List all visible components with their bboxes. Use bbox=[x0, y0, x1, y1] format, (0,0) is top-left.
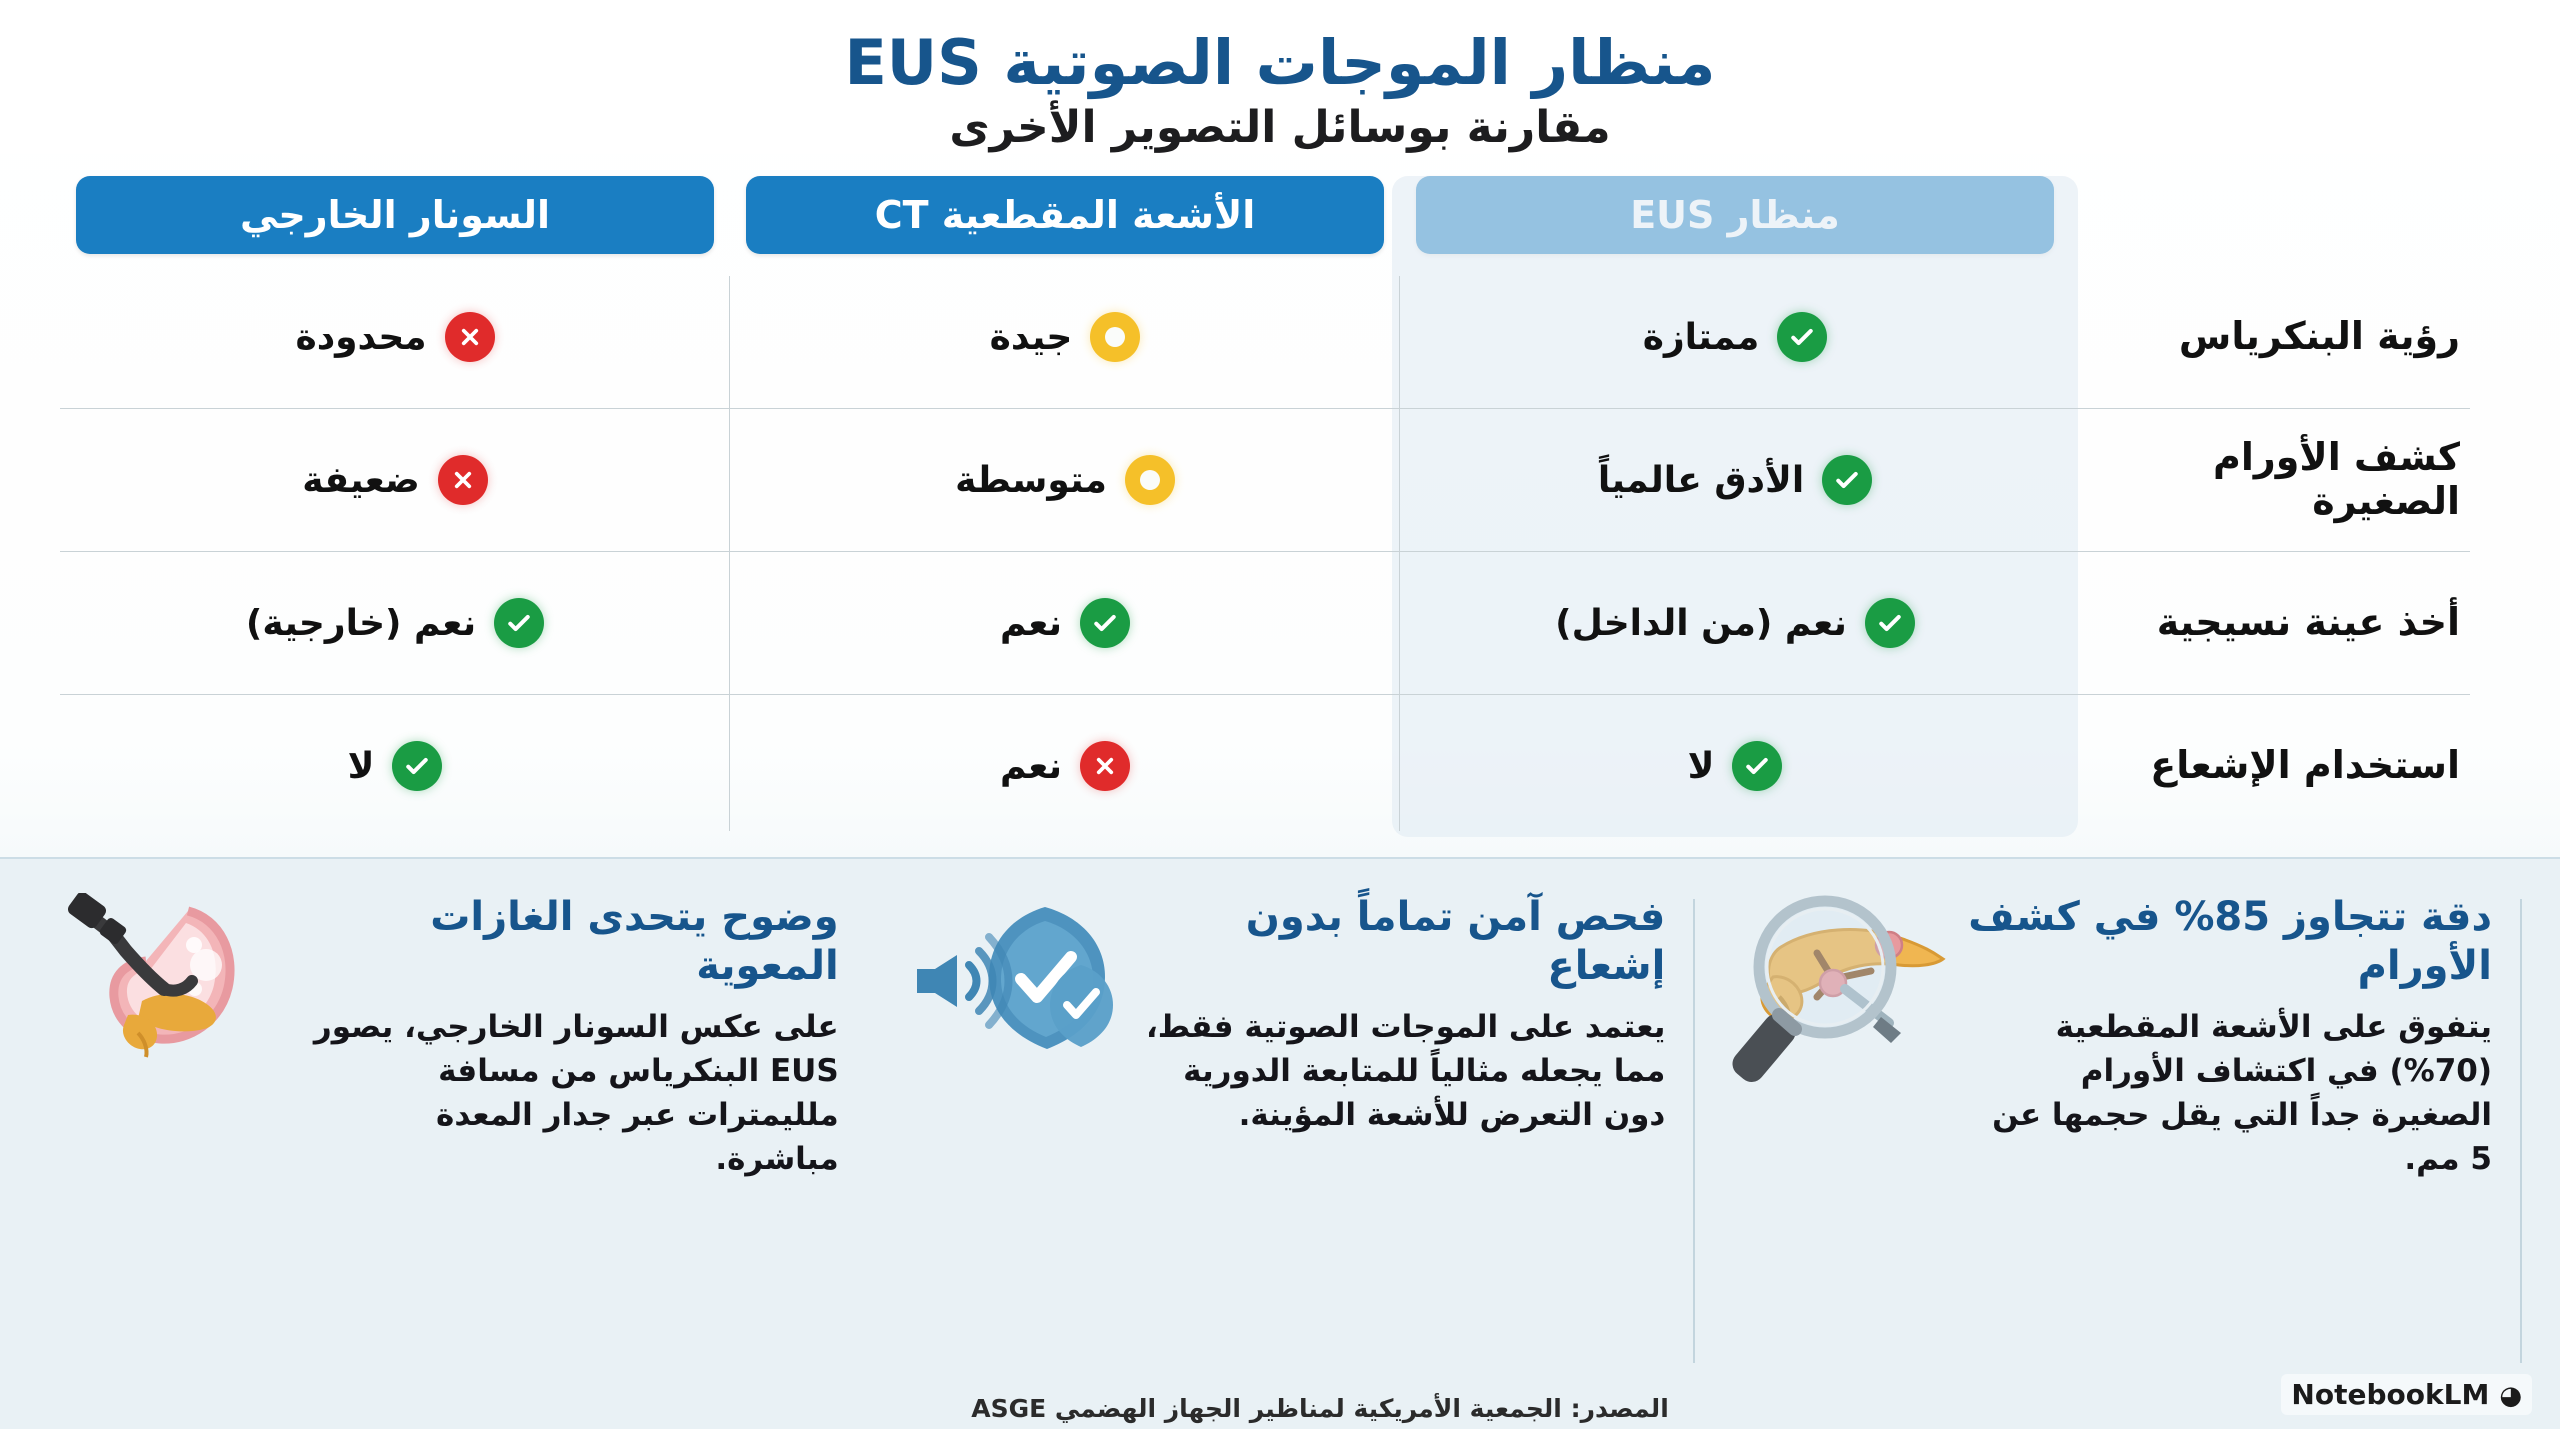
partial-circle-icon bbox=[1090, 312, 1140, 362]
watermark-label: NotebookLM bbox=[2291, 1378, 2489, 1411]
table-cell-ct: جيدة bbox=[730, 266, 1400, 408]
column-header-ct-label: الأشعة المقطعية CT bbox=[746, 176, 1384, 254]
source-text: المصدر: الجمعية الأمريكية لمناظير الجهاز… bbox=[971, 1394, 1669, 1423]
cell-text: لا bbox=[1688, 746, 1715, 787]
column-header-ct: الأشعة المقطعية CT bbox=[730, 176, 1400, 266]
check-circle-icon bbox=[1777, 312, 1827, 362]
column-divider bbox=[729, 276, 730, 831]
cross-circle-icon bbox=[438, 455, 488, 505]
row-label: أخذ عينة نسيجية bbox=[2070, 552, 2470, 694]
cell-text: ضعيفة bbox=[302, 460, 420, 501]
cell-text: ممتازة bbox=[1643, 317, 1760, 358]
table-cell-eus: ممتازة bbox=[1400, 266, 2070, 408]
table-corner-blank bbox=[2070, 176, 2470, 266]
header: منظار الموجات الصوتية EUS مقارنة بوسائل … bbox=[0, 0, 2560, 154]
cross-circle-icon bbox=[1080, 741, 1130, 791]
row-divider bbox=[60, 694, 2470, 695]
column-header-sonar-label: السونار الخارجي bbox=[76, 176, 714, 254]
row-label: كشف الأورام الصغيرة bbox=[2070, 409, 2470, 551]
table-cell-ct: متوسطة bbox=[730, 409, 1400, 551]
feature-title: دقة تتجاوز 85% في كشف الأورام bbox=[1961, 893, 2492, 991]
partial-circle-icon bbox=[1125, 455, 1175, 505]
cell-text: نعم (خارجية) bbox=[246, 603, 476, 644]
check-circle-icon bbox=[1732, 741, 1782, 791]
table-cell-sonar: نعم (خارجية) bbox=[60, 552, 730, 694]
infographic-page: منظار الموجات الصوتية EUS مقارنة بوسائل … bbox=[0, 0, 2560, 1429]
table-cell-ct: نعم bbox=[730, 695, 1400, 837]
column-header-eus: منظار EUS bbox=[1400, 176, 2070, 266]
footer: المصدر: الجمعية الأمريكية لمناظير الجهاز… bbox=[0, 1337, 2560, 1429]
row-divider bbox=[60, 408, 2470, 409]
table-cell-sonar: محدودة bbox=[60, 266, 730, 408]
page-title: منظار الموجات الصوتية EUS bbox=[0, 28, 2560, 97]
table-cell-eus: الأدق عالمياً bbox=[1400, 409, 2070, 551]
check-circle-icon bbox=[1822, 455, 1872, 505]
cell-text: لا bbox=[348, 746, 375, 787]
check-circle-icon bbox=[1865, 598, 1915, 648]
magnifier-pancreas-tumor-icon bbox=[1721, 893, 1951, 1083]
feature-title: فحص آمن تماماً بدون إشعاع bbox=[1135, 893, 1666, 991]
feature-body: على عكس السونار الخارجي، يصور EUS البنكر… bbox=[308, 1005, 839, 1181]
check-circle-icon bbox=[1080, 598, 1130, 648]
check-circle-icon bbox=[494, 598, 544, 648]
row-divider bbox=[60, 551, 2470, 552]
row-label: استخدام الإشعاع bbox=[2070, 695, 2470, 837]
column-divider bbox=[1399, 276, 1400, 831]
row-label: رؤية البنكرياس bbox=[2070, 266, 2470, 408]
feature-title: وضوح يتحدى الغازات المعوية bbox=[308, 893, 839, 991]
endoscope-stomach-pancreas-icon bbox=[68, 893, 298, 1083]
check-circle-icon bbox=[392, 741, 442, 791]
cell-text: الأدق عالمياً bbox=[1598, 460, 1804, 501]
column-header-eus-label: منظار EUS bbox=[1416, 176, 2054, 254]
cell-text: محدودة bbox=[295, 317, 426, 358]
cell-text: نعم bbox=[1000, 603, 1062, 644]
table-cell-eus: لا bbox=[1400, 695, 2070, 837]
feature-body: يتفوق على الأشعة المقطعية (70%) في اكتشا… bbox=[1961, 1005, 2492, 1181]
cell-text: نعم bbox=[1000, 746, 1062, 787]
notebooklm-logo-icon: ◕ bbox=[2499, 1381, 2522, 1411]
table-cell-sonar: لا bbox=[60, 695, 730, 837]
column-header-sonar: السونار الخارجي bbox=[60, 176, 730, 266]
table-cell-sonar: ضعيفة bbox=[60, 409, 730, 551]
shield-soundwave-icon bbox=[895, 893, 1125, 1083]
table-cell-ct: نعم bbox=[730, 552, 1400, 694]
cell-text: متوسطة bbox=[955, 460, 1107, 501]
comparison-table: منظار EUS الأشعة المقطعية CT السونار الخ… bbox=[0, 176, 2560, 837]
feature-body: يعتمد على الموجات الصوتية فقط، مما يجعله… bbox=[1135, 1005, 1666, 1137]
cell-text: نعم (من الداخل) bbox=[1555, 603, 1847, 644]
cross-circle-icon bbox=[445, 312, 495, 362]
cell-text: جيدة bbox=[990, 317, 1073, 358]
table-cell-eus: نعم (من الداخل) bbox=[1400, 552, 2070, 694]
page-subtitle: مقارنة بوسائل التصوير الأخرى bbox=[0, 103, 2560, 154]
notebooklm-watermark: ◕ NotebookLM bbox=[2281, 1374, 2532, 1415]
